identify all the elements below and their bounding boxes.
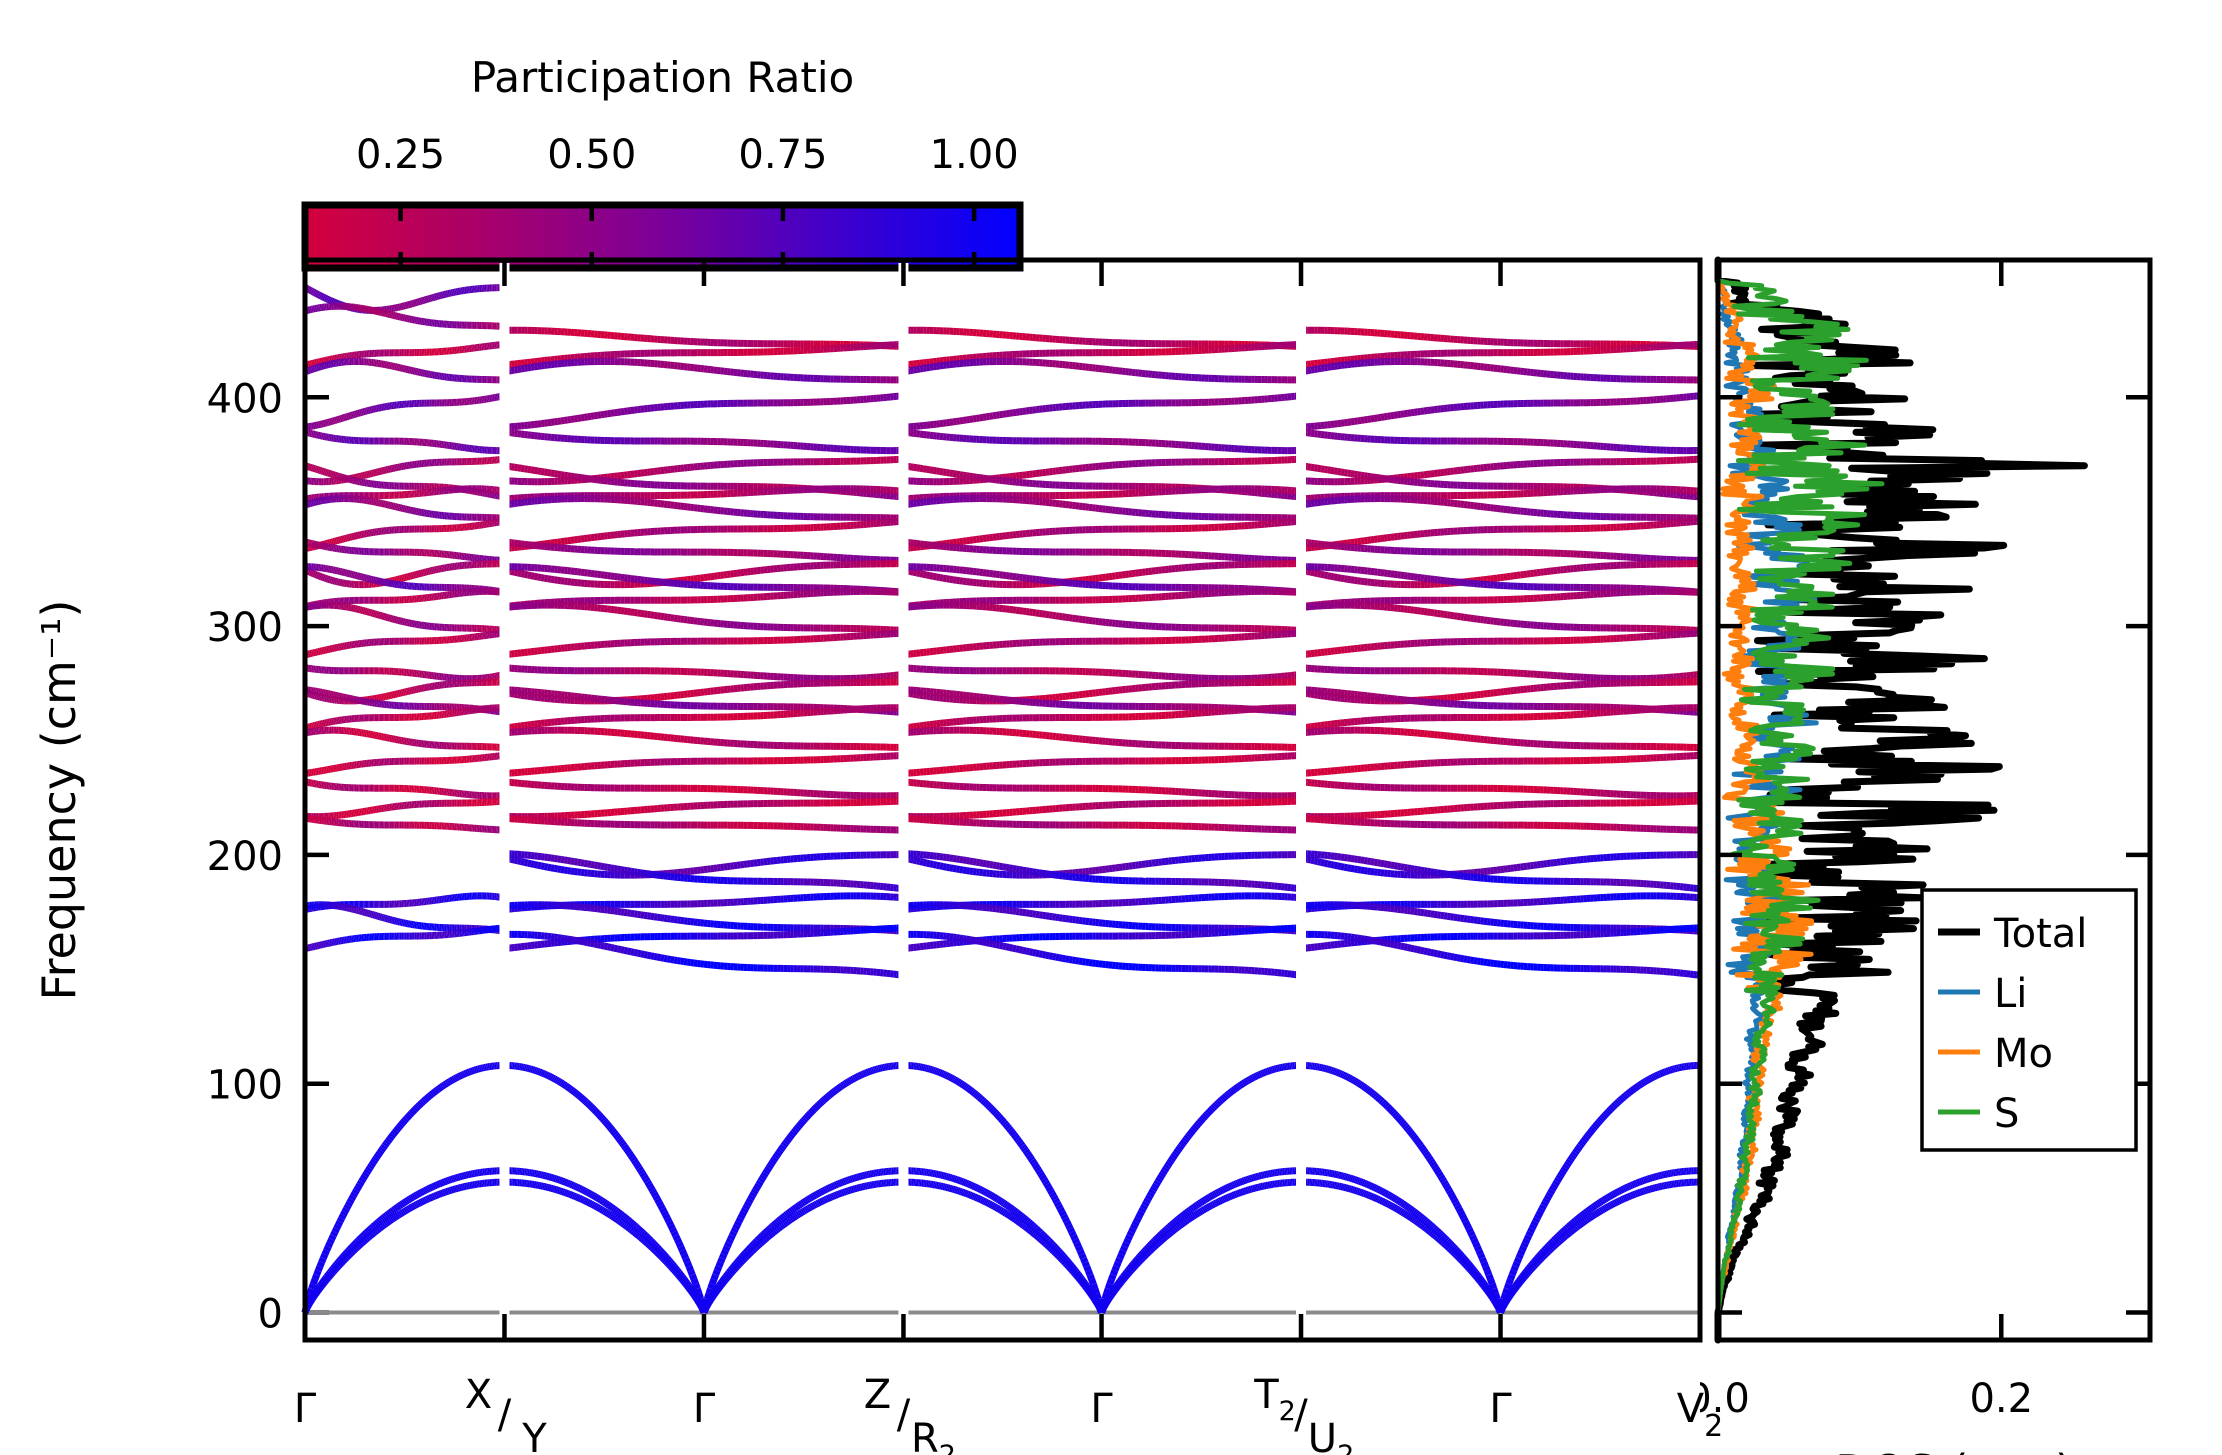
legend-label-total[interactable]: Total xyxy=(1993,911,2087,957)
legend-label-li[interactable]: Li xyxy=(1994,971,2027,1017)
segment-gap xyxy=(1296,263,1306,1339)
x-tick-label: Γ xyxy=(294,1386,317,1432)
phonon-figure: Participation Ratio0.250.500.751.00 Freq… xyxy=(0,0,2222,1455)
x-tick-label: X/Y xyxy=(465,1372,547,1455)
x-tick-label: Γ xyxy=(1489,1386,1512,1432)
segment-gap xyxy=(898,263,908,1339)
colorbar-tick-label: 1.00 xyxy=(930,132,1019,178)
colorbar-title: Participation Ratio xyxy=(471,53,854,102)
dos-x-tick-label: 0.0 xyxy=(1700,1376,1750,1422)
x-tick-label: Γ xyxy=(693,1386,716,1432)
dos-x-axis-label: DOS (a.u.) xyxy=(1835,1445,2073,1455)
legend-label-mo[interactable]: Mo xyxy=(1994,1031,2053,1077)
legend-label-s[interactable]: S xyxy=(1994,1091,2019,1137)
y-tick-label: 400 xyxy=(207,376,283,422)
participation-ratio-colorbar: Participation Ratio0.250.500.751.00 xyxy=(0,0,1100,290)
segment-gap xyxy=(499,263,509,1339)
x-tick-label: Γ xyxy=(1090,1386,1113,1432)
y-tick-label: 100 xyxy=(207,1063,283,1109)
dos-x-tick-label: 0.2 xyxy=(1969,1376,2033,1422)
x-tick-label: Z/R2 xyxy=(864,1372,956,1455)
dos-svg: 0.00.2DOS (a.u.)TotalLiMoS xyxy=(1700,250,2222,1455)
band-structure-panel: Frequency (cm⁻¹)0100200300400ΓX/YΓZ/R2ΓT… xyxy=(0,250,1760,1455)
y-tick-label: 300 xyxy=(207,605,283,651)
dos-panel: 0.00.2DOS (a.u.)TotalLiMoS xyxy=(1700,250,2222,1455)
band-curves xyxy=(305,263,1700,1339)
colorbar-tick-label: 0.25 xyxy=(356,132,445,178)
colorbar-tick-label: 0.50 xyxy=(547,132,636,178)
band-structure-svg: Frequency (cm⁻¹)0100200300400ΓX/YΓZ/R2ΓT… xyxy=(0,250,1760,1455)
y-tick-label: 0 xyxy=(258,1292,283,1338)
dos-curves xyxy=(1718,260,2084,1340)
x-tick-label: T2/U2 xyxy=(1253,1372,1354,1455)
bands-axes-frame xyxy=(305,260,1700,1340)
colorbar-tick-label: 0.75 xyxy=(738,132,827,178)
colorbar-svg: Participation Ratio0.250.500.751.00 xyxy=(0,0,1100,290)
y-tick-label: 200 xyxy=(207,834,283,880)
y-axis-label: Frequency (cm⁻¹) xyxy=(32,600,86,1001)
